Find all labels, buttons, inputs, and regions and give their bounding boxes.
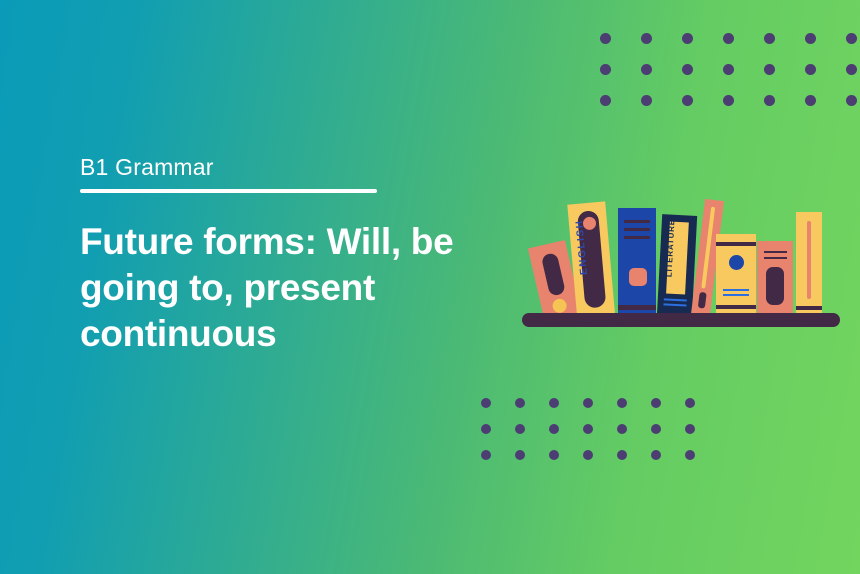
dot <box>515 398 549 424</box>
book-stripe <box>624 236 650 239</box>
book-cap-band <box>716 242 756 246</box>
dot <box>846 95 860 126</box>
dot <box>600 95 641 126</box>
dot <box>641 95 682 126</box>
dot <box>651 424 685 450</box>
decorative-dot-grid-bottom <box>481 398 719 476</box>
book-stripe <box>723 294 749 296</box>
dot <box>549 450 583 476</box>
grammar-lesson-banner: B1 Grammar Future forms: Will, be going … <box>0 0 860 574</box>
dot <box>600 64 641 95</box>
dot <box>617 424 651 450</box>
dot <box>481 424 515 450</box>
bookshelf-illustration: ENGLISH LITERATURE <box>520 180 850 330</box>
dot <box>723 95 764 126</box>
dot <box>481 450 515 476</box>
book-spine-line <box>807 221 811 299</box>
dot <box>641 64 682 95</box>
dot <box>846 33 860 64</box>
dot <box>805 95 846 126</box>
book-square <box>629 268 647 286</box>
dot <box>682 33 723 64</box>
book-literature: LITERATURE <box>657 214 697 316</box>
dot <box>723 64 764 95</box>
dot <box>515 424 549 450</box>
dot <box>805 33 846 64</box>
dot <box>764 95 805 126</box>
dot <box>583 450 617 476</box>
book-coral-pill <box>757 241 793 314</box>
book-foot-band <box>796 306 822 310</box>
eyebrow-label: B1 Grammar <box>80 152 510 182</box>
dot <box>685 398 719 424</box>
banner-text-block: B1 Grammar Future forms: Will, be going … <box>80 152 510 357</box>
book-stripe <box>664 298 687 301</box>
dot <box>617 450 651 476</box>
book-stripe <box>624 220 650 223</box>
dot <box>764 33 805 64</box>
book-stripe <box>723 289 749 291</box>
book-stripe <box>764 257 787 259</box>
book-blue <box>618 208 656 314</box>
dot <box>617 398 651 424</box>
dot <box>600 33 641 64</box>
book-spine-pill <box>541 252 566 297</box>
dot <box>846 64 860 95</box>
dot <box>583 424 617 450</box>
dot <box>651 398 685 424</box>
book-spine-line <box>701 207 715 289</box>
dot <box>515 450 549 476</box>
dot <box>481 398 515 424</box>
book-dot <box>551 297 568 314</box>
decorative-dot-grid-top <box>600 33 860 126</box>
book-tab <box>698 292 707 309</box>
book-stripe <box>764 251 787 253</box>
book-spine-pill <box>766 267 784 305</box>
dot <box>685 450 719 476</box>
dot <box>549 398 583 424</box>
book-stripe <box>624 228 650 231</box>
dot <box>764 64 805 95</box>
page-title: Future forms: Will, be going to, present… <box>80 193 500 357</box>
book-dot <box>729 255 744 270</box>
book-foot-band <box>716 305 756 309</box>
dot <box>682 95 723 126</box>
dot <box>583 398 617 424</box>
book-yellow-dot <box>716 234 756 314</box>
shelf-board <box>522 313 840 327</box>
dot <box>685 424 719 450</box>
dot <box>682 64 723 95</box>
book-stripe <box>663 303 686 306</box>
book-foot-band <box>618 305 656 310</box>
dot <box>641 33 682 64</box>
book-yellow-tall <box>796 212 822 314</box>
dot <box>651 450 685 476</box>
dot <box>549 424 583 450</box>
dot <box>723 33 764 64</box>
dot <box>805 64 846 95</box>
